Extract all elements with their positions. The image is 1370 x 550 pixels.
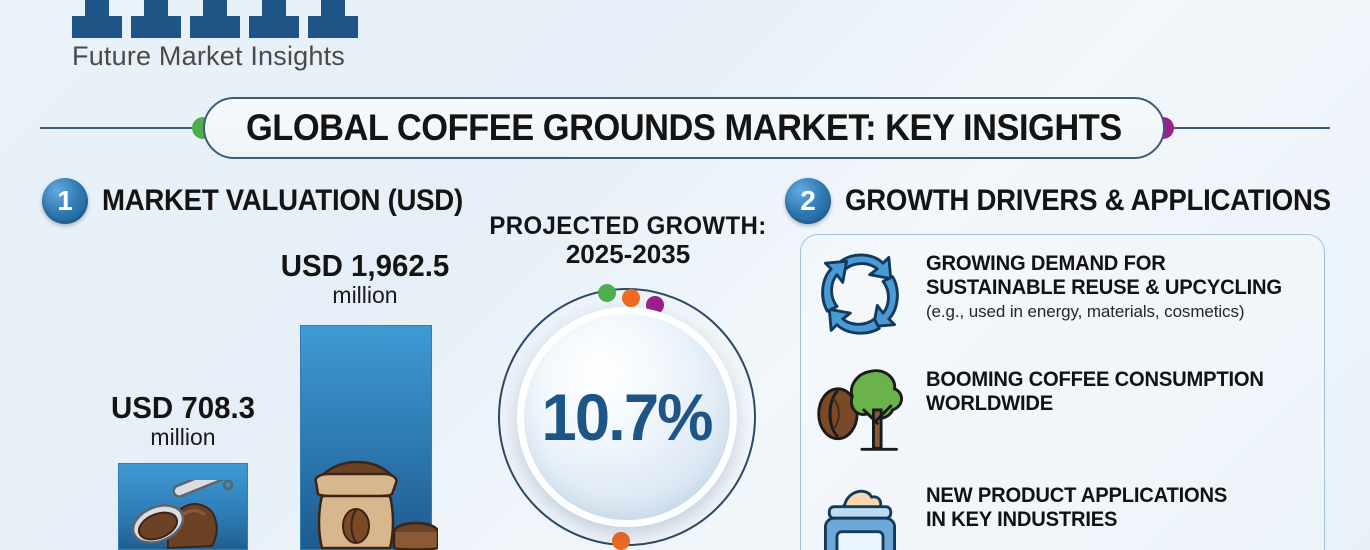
banner-rule-right xyxy=(1158,127,1330,129)
growth-caption-line2: 2025-2035 xyxy=(478,239,778,270)
driver-subtitle-1: (e.g., used in energy, materials, cosmet… xyxy=(926,302,1297,322)
recycle-arrows-icon xyxy=(812,244,908,340)
growth-drivers-list: GROWING DEMAND FOR SUSTAINABLE REUSE & U… xyxy=(812,244,1332,550)
bar-value-2035: USD 1,962.5 xyxy=(246,248,484,284)
driver-title-line1-2: BOOMING COFFEE CONSUMPTION xyxy=(926,368,1264,392)
bar-label-2035: USD 1,962.5 million xyxy=(240,248,490,309)
bar-unit-2035: million xyxy=(240,282,490,309)
driver-text-1: GROWING DEMAND FOR SUSTAINABLE REUSE & U… xyxy=(926,244,1297,322)
section-title-2: GROWTH DRIVERS & APPLICATIONS xyxy=(845,184,1331,218)
ring-dot-orange-icon xyxy=(622,289,640,307)
coffee-sack-icon xyxy=(298,452,438,550)
growth-caption: PROJECTED GROWTH: 2025-2035 xyxy=(478,212,778,270)
driver-text-2: BOOMING COFFEE CONSUMPTION WORLDWIDE xyxy=(926,360,1278,415)
cosmetic-jar-icon xyxy=(812,476,908,550)
ring-dot-bottom-icon xyxy=(612,532,630,550)
growth-caption-line1: PROJECTED GROWTH: xyxy=(484,212,772,241)
section-number-badge-2: 2 xyxy=(785,178,831,224)
bar-unit-2025: million xyxy=(58,424,308,451)
bar-value-2025: USD 708.3 xyxy=(64,390,302,426)
coffee-scoop-icon xyxy=(124,480,246,550)
driver-title-line1-3: NEW PRODUCT APPLICATIONS xyxy=(926,484,1227,508)
projected-growth-widget: PROJECTED GROWTH: 2025-2035 10.7% xyxy=(478,212,778,550)
growth-orb: 10.7% xyxy=(517,307,737,527)
driver-text-3: NEW PRODUCT APPLICATIONS IN KEY INDUSTRI… xyxy=(926,476,1240,531)
growth-value: 10.7% xyxy=(542,379,712,455)
driver-title-line2-1: SUSTAINABLE REUSE & UPCYCLING xyxy=(926,276,1282,300)
driver-item-coffee-consumption: BOOMING COFFEE CONSUMPTION WORLDWIDE xyxy=(812,360,1332,464)
driver-item-new-product-applications: NEW PRODUCT APPLICATIONS IN KEY INDUSTRI… xyxy=(812,476,1332,550)
driver-title-line2-2: WORLDWIDE xyxy=(926,392,1264,416)
ring-dot-green-icon xyxy=(598,284,616,302)
growth-ring: 10.7% xyxy=(498,288,756,546)
coffee-bean-tree-icon xyxy=(812,360,908,456)
market-valuation-bar-chart: USD 708.3 million USD 1,962.5 million xyxy=(0,0,500,550)
driver-item-sustainable-reuse: GROWING DEMAND FOR SUSTAINABLE REUSE & U… xyxy=(812,244,1332,348)
section-header-growth-drivers: 2 GROWTH DRIVERS & APPLICATIONS xyxy=(785,178,1370,224)
bar-label-2025: USD 708.3 million xyxy=(58,390,308,451)
infographic-canvas: Future Market Insights GLOBAL COFFEE GRO… xyxy=(0,0,1370,550)
driver-title-line2-3: IN KEY INDUSTRIES xyxy=(926,508,1227,532)
driver-title-line1-1: GROWING DEMAND FOR xyxy=(926,252,1282,276)
